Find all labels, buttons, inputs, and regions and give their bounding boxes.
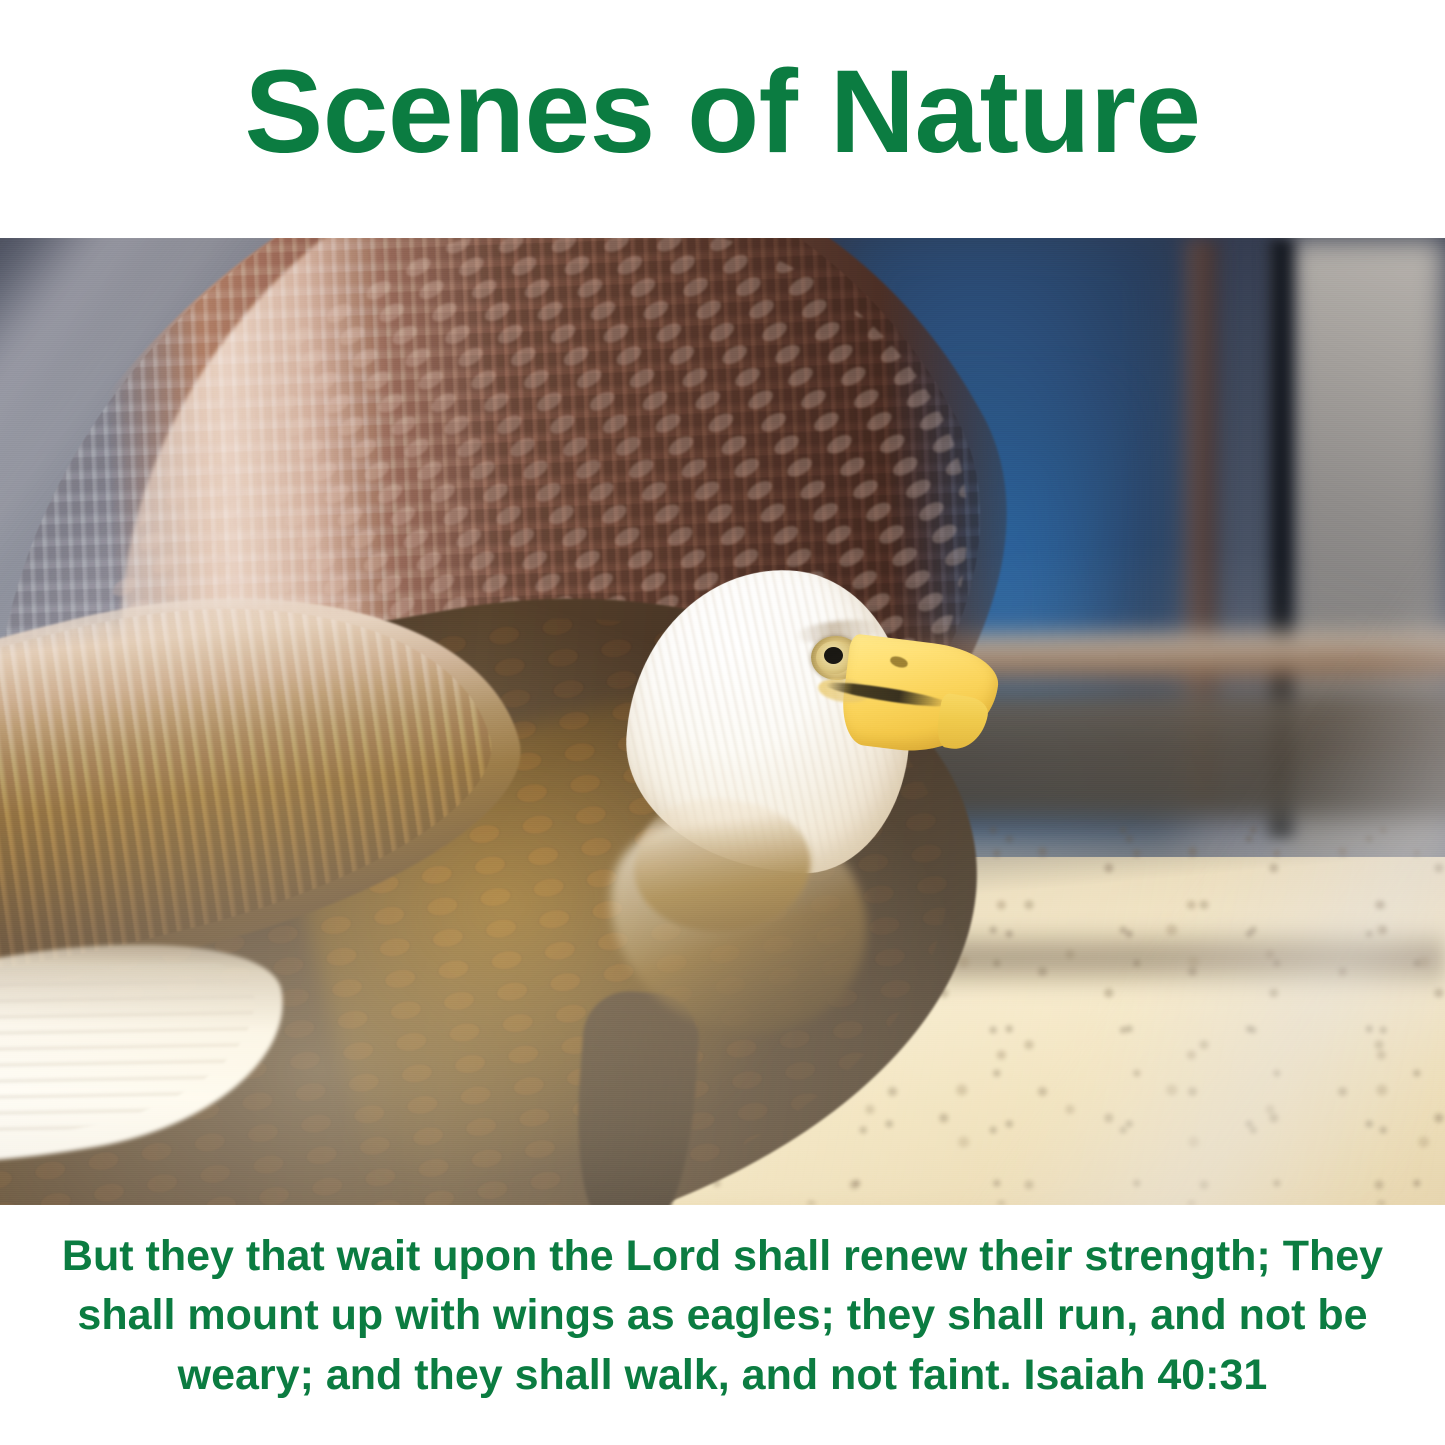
scripture-verse: But they that wait upon the Lord shall r… xyxy=(23,1227,1423,1405)
nature-photo xyxy=(0,238,1445,1205)
eagle-leg xyxy=(570,989,702,1205)
verse-band: But they that wait upon the Lord shall r… xyxy=(0,1205,1445,1445)
poster-canvas: Scenes of Nature xyxy=(0,0,1445,1445)
title-band: Scenes of Nature xyxy=(0,0,1445,238)
page-title: Scenes of Nature xyxy=(245,53,1201,185)
